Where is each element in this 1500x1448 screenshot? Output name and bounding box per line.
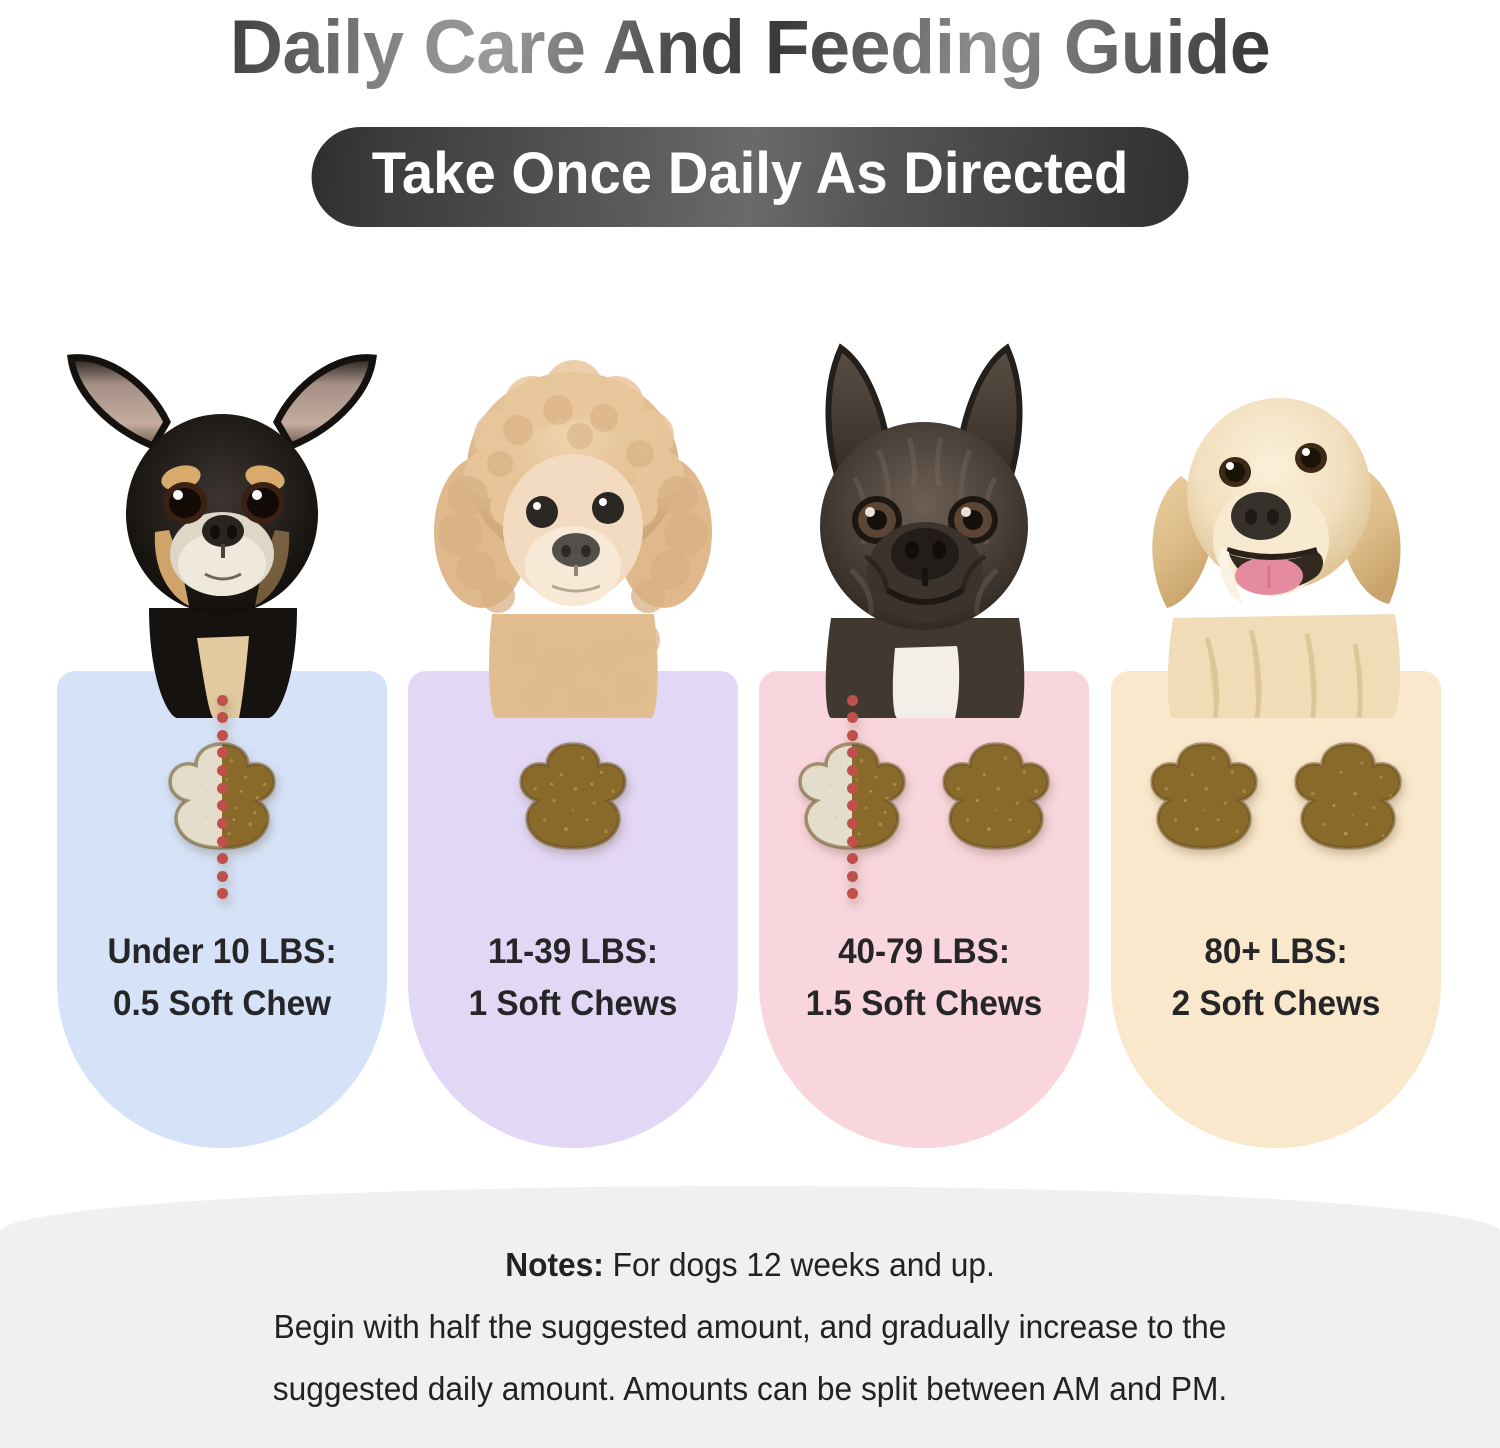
dosage-cards: Under 10 LBS: 0.5 Soft Chew	[0, 318, 1500, 1148]
dosage-card-80-plus[interactable]: 80+ LBS: 2 Soft Chews	[1111, 318, 1441, 1148]
dose-label: 2 Soft Chews	[1119, 978, 1433, 1030]
header: Daily Care And Feeding Guide Take Once D…	[0, 0, 1500, 240]
half-split-marker	[845, 695, 859, 900]
notes-section: Notes: For dogs 12 weeks and up. Begin w…	[0, 1186, 1500, 1448]
chew-full-icon	[1289, 737, 1407, 855]
card-label: 40-79 LBS: 1.5 Soft Chews	[767, 926, 1081, 1030]
dose-label: 1 Soft Chews	[416, 978, 730, 1030]
weight-label: 11-39 LBS:	[488, 932, 658, 971]
notes-line-1-rest: For dogs 12 weeks and up.	[604, 1246, 995, 1283]
chew-icons	[1111, 723, 1441, 868]
weight-label: 80+ LBS:	[1204, 932, 1347, 971]
chew-icons	[408, 723, 738, 868]
directions-banner: Take Once Daily As Directed	[311, 127, 1188, 227]
chew-full-icon	[514, 737, 632, 855]
chew-full-icon	[1145, 737, 1263, 855]
banner-wrapper: Take Once Daily As Directed	[0, 127, 1500, 227]
notes-heading: Notes:	[505, 1246, 604, 1283]
card-label: 80+ LBS: 2 Soft Chews	[1119, 926, 1433, 1030]
notes-line-2: Begin with half the suggested amount, an…	[30, 1296, 1470, 1358]
chew-full-icon	[937, 737, 1055, 855]
chew-half-icon	[163, 737, 281, 855]
dose-label: 0.5 Soft Chew	[65, 978, 379, 1030]
chew-half-icon	[793, 737, 911, 855]
chew-icons	[57, 723, 387, 868]
half-split-marker	[215, 695, 229, 900]
notes-text: Notes: For dogs 12 weeks and up. Begin w…	[30, 1234, 1470, 1420]
chew-icons	[759, 723, 1089, 868]
dosage-card-40-79[interactable]: 40-79 LBS: 1.5 Soft Chews	[759, 318, 1089, 1148]
weight-label: 40-79 LBS:	[838, 932, 1010, 971]
card-label: 11-39 LBS: 1 Soft Chews	[416, 926, 730, 1030]
card-label: Under 10 LBS: 0.5 Soft Chew	[65, 926, 379, 1030]
notes-line-1: Notes: For dogs 12 weeks and up.	[30, 1234, 1470, 1296]
dosage-card-under-10[interactable]: Under 10 LBS: 0.5 Soft Chew	[57, 318, 387, 1148]
dog-photo-chihuahua	[57, 318, 387, 718]
page-title: Daily Care And Feeding Guide	[23, 2, 1478, 94]
dog-photo-poodle	[408, 318, 738, 718]
dosage-card-11-39[interactable]: 11-39 LBS: 1 Soft Chews	[408, 318, 738, 1148]
weight-label: Under 10 LBS:	[107, 932, 336, 971]
dog-photo-french-bulldog	[759, 318, 1089, 718]
notes-line-3: suggested daily amount. Amounts can be s…	[30, 1358, 1470, 1420]
dog-photo-golden-retriever	[1111, 318, 1441, 718]
dose-label: 1.5 Soft Chews	[767, 978, 1081, 1030]
